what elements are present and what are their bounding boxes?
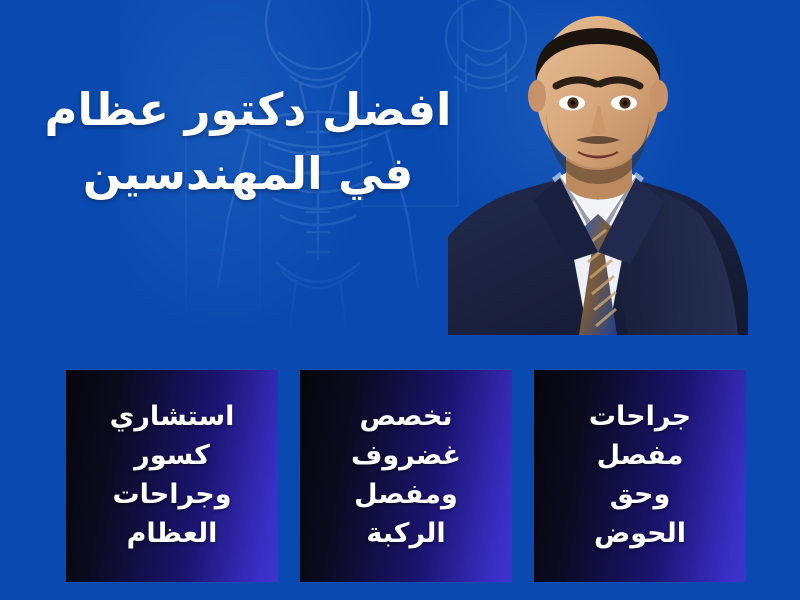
headline-line-1: افضل دكتور عظام	[18, 78, 478, 142]
feature-card-list: استشاري كسور وجراحات العظام تخصص غضروف و…	[66, 370, 746, 582]
ad-banner: افضل دكتور عظام في المهندسين	[0, 0, 800, 600]
doctor-portrait-photo	[448, 0, 748, 335]
feature-card-knee[interactable]: تخصص غضروف ومفصل الركبة	[300, 370, 512, 582]
feature-card-hip-label: جراحات مفصل وحق الحوض	[589, 398, 691, 554]
page-title: افضل دكتور عظام في المهندسين	[18, 78, 478, 206]
feature-card-consultant-label: استشاري كسور وجراحات العظام	[110, 398, 235, 554]
feature-card-consultant[interactable]: استشاري كسور وجراحات العظام	[66, 370, 278, 582]
headline-line-2: في المهندسين	[18, 142, 478, 206]
feature-card-hip[interactable]: جراحات مفصل وحق الحوض	[534, 370, 746, 582]
feature-card-knee-label: تخصص غضروف ومفصل الركبة	[351, 398, 461, 554]
